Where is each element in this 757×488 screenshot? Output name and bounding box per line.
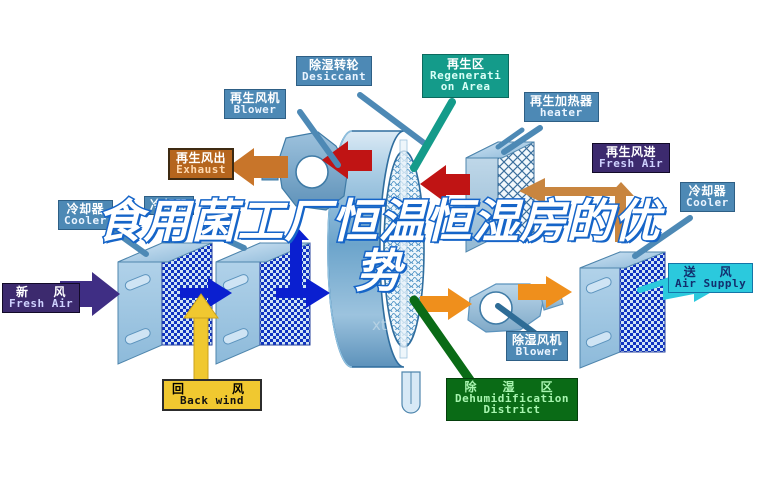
regen-intake-arrow [519, 178, 634, 242]
drain-pan [402, 372, 420, 413]
regen-hot-air-arrow-2 [420, 165, 470, 203]
label-dehumidification-blower[interactable]: 除湿风机 Blower [506, 331, 568, 361]
label-fresh-air-left-en: Fresh Air [9, 298, 73, 309]
regeneration-heater [466, 142, 534, 252]
label-regeneration-blower[interactable]: 再生风机 Blower [224, 89, 286, 119]
label-dehumidification-blower-en: Blower [512, 346, 562, 357]
label-dehumidification-district[interactable]: 除 湿 区 Dehumidification District [446, 378, 578, 421]
label-cooler-right[interactable]: 冷却器 Cooler [680, 182, 735, 212]
label-regeneration-heater[interactable]: 再生加热器 heater [524, 92, 599, 122]
label-exhaust[interactable]: 再生风出 Exhaust [168, 148, 234, 180]
label-air-supply[interactable]: 送 风 Air Supply [668, 263, 753, 293]
label-dehumidification-district-en2: District [455, 404, 569, 415]
label-cooler-right-en: Cooler [686, 197, 729, 208]
label-exhaust-en: Exhaust [176, 164, 226, 175]
label-fresh-air-left[interactable]: 新 风 Fresh Air [2, 283, 80, 313]
watermark: xt [372, 316, 387, 334]
label-regeneration-blower-en: Blower [230, 104, 280, 115]
exhaust-arrow [228, 148, 288, 186]
label-cooler-left[interactable]: 冷却器 Cooler [58, 200, 113, 230]
label-desiccant-rotor-en: Desiccant [302, 71, 366, 82]
label-cooler-middle[interactable]: 冷却器 [144, 196, 194, 215]
label-regeneration-fresh-air[interactable]: 再生风进 Fresh Air [592, 143, 670, 173]
label-back-wind[interactable]: 回 风 Back wind [162, 379, 262, 411]
label-regeneration-area-en2: on Area [430, 81, 501, 92]
diagram-canvas: xt 除湿转轮 Desiccant 再生风机 Blower 再生区 Regene… [0, 0, 757, 488]
label-cooler-left-en: Cooler [64, 215, 107, 226]
label-regeneration-heater-en: heater [530, 107, 593, 118]
cooling-coil-3 [580, 252, 665, 368]
label-back-wind-en: Back wind [172, 395, 252, 406]
label-regeneration-area[interactable]: 再生区 Regenerati on Area [422, 54, 509, 98]
label-cooler-middle-cn: 冷却器 [150, 199, 188, 211]
label-air-supply-en: Air Supply [675, 278, 746, 289]
label-desiccant-rotor[interactable]: 除湿转轮 Desiccant [296, 56, 372, 86]
label-regeneration-fresh-air-en: Fresh Air [599, 158, 663, 169]
schematic-svg: xt [0, 0, 757, 488]
